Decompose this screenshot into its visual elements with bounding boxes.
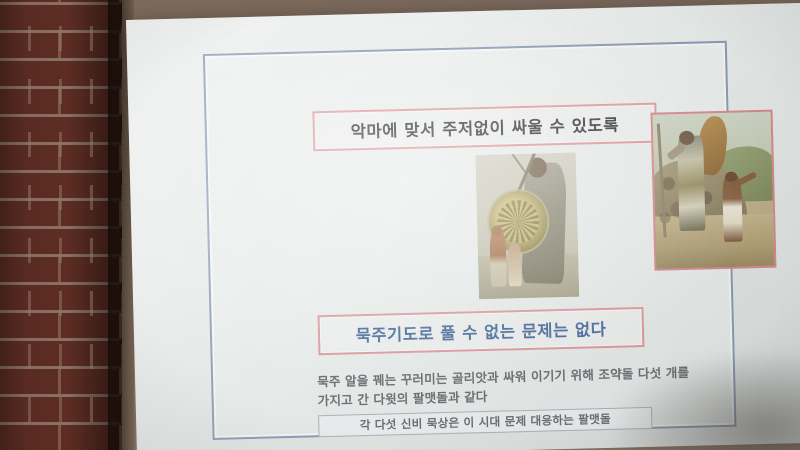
illustration-david-body	[489, 229, 506, 287]
photo-scene: 악마에 맞서 주저없이 싸울 수 있도록	[0, 0, 800, 450]
goliath-with-shield-illustration	[476, 153, 580, 299]
slide-body-paragraph: 묵주 알을 꿰는 꾸러미는 골리앗과 싸워 이기기 위해 조약돌 다섯 개를 가…	[317, 362, 758, 410]
painting-david-head	[725, 171, 737, 182]
illustration-second-figure	[508, 243, 522, 287]
slide-footer-box: 각 다섯 신비 묵상은 이 시대 문제 대응하는 팔맷돌	[318, 407, 652, 437]
slide-statement: 묵주기도로 풀 수 없는 문제는 없다	[355, 316, 606, 346]
illustration-david-head	[491, 225, 502, 237]
slide-title: 악마에 맞서 주저없이 싸울 수 있도록	[350, 112, 619, 143]
david-and-goliath-painting	[651, 110, 777, 271]
brick-wall	[0, 0, 122, 450]
slide-footer-text: 각 다섯 신비 묵상은 이 시대 문제 대응하는 팔맷돌	[360, 411, 612, 433]
projection-screen: 악마에 맞서 주저없이 싸울 수 있도록	[126, 3, 800, 450]
slide-frame: 악마에 맞서 주저없이 싸울 수 있도록	[203, 41, 737, 440]
slide-statement-box: 묵주기도로 풀 수 없는 문제는 없다	[318, 307, 645, 355]
slide-title-box: 악마에 맞서 주저없이 싸울 수 있도록	[312, 103, 657, 152]
